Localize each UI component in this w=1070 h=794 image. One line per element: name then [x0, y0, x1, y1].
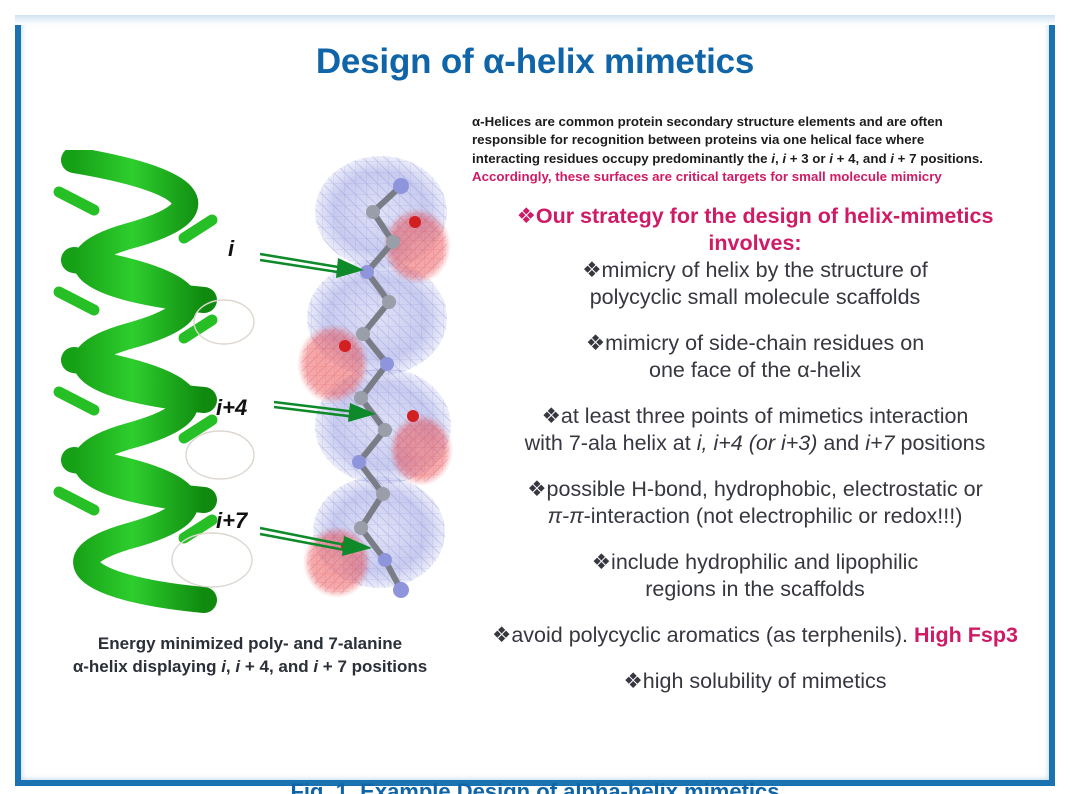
bullet-3-italic-1: i, i+4 (or i+3) [697, 431, 818, 455]
bullet-3-line-1: ❖at least three points of mimetics inter… [455, 403, 1055, 430]
bullet-glyph-icon: ❖ [517, 204, 536, 229]
bullet-glyph-icon: ❖ [582, 258, 601, 283]
bullet-glyph-icon: ❖ [592, 550, 611, 575]
electrostatic-surface-image [289, 150, 479, 630]
intro-line-1: α-Helices are common protein secondary s… [472, 113, 1012, 131]
bullet-lead-line-1: ❖Our strategy for the design of helix-mi… [455, 203, 1055, 230]
intro-line-3-e: + 7 positions. [894, 151, 983, 166]
bullet-5-line-2: regions in the scaffolds [455, 576, 1055, 603]
helix-figure [34, 150, 479, 630]
bullet-1-text-1: mimicry of helix by the structure of [602, 258, 928, 282]
arrow-to-position-i7 [258, 522, 376, 556]
bullet-2-line-2: one face of the α-helix [455, 357, 1055, 384]
bullet-3-mid: and [817, 431, 865, 455]
bullet-3-text-1: at least three points of mimetics intera… [561, 404, 969, 428]
bullet-3-pre: with 7-ala helix at [525, 431, 697, 455]
figure-caption-line-2: α-helix displaying i, i + 4, and i + 7 p… [20, 655, 480, 678]
bullet-lead-line-2: involves: [455, 230, 1055, 257]
intro-line-4-accent: Accordingly, these surfaces are critical… [472, 168, 1012, 186]
bullet-glyph-icon: ❖ [542, 404, 561, 429]
intro-line-3: interacting residues occupy predominantl… [472, 150, 1012, 168]
bullet-7-text: high solubility of mimetics [643, 669, 887, 693]
bullet-4-rest: -interaction (not electrophilic or redox… [584, 504, 963, 528]
label-position-i4: i+4 [216, 395, 247, 421]
bullet-7: ❖high solubility of mimetics [455, 668, 1055, 695]
intro-line-2: responsible for recognition between prot… [472, 131, 1012, 149]
bullet-lead-text-1: Our strategy for the design of helix-mim… [536, 204, 994, 228]
bullet-6-highlight: High Fsp3 [914, 623, 1018, 647]
bullet-glyph-icon: ❖ [586, 331, 605, 356]
intro-line-3-c: + 3 or [786, 151, 829, 166]
caption-b: , [226, 657, 235, 676]
alpha-helix-ribbon-image [34, 150, 284, 630]
spacer [455, 311, 1055, 330]
bullet-6-text: avoid polycyclic aromatics (as terphenil… [511, 623, 914, 647]
arrow-to-position-i4 [272, 396, 380, 426]
spacer [455, 530, 1055, 549]
caption-c: + 4, and [240, 657, 313, 676]
bullet-6: ❖avoid polycyclic aromatics (as terpheni… [455, 622, 1055, 649]
bullet-3-post: positions [895, 431, 986, 455]
intro-line-3-d: + 4, and [833, 151, 890, 166]
bullet-1-line-2: polycyclic small molecule scaffolds [455, 284, 1055, 311]
bullet-2-text-1: mimicry of side-chain residues on [605, 331, 924, 355]
bullet-1-line-1: ❖mimicry of helix by the structure of [455, 257, 1055, 284]
intro-paragraph: α-Helices are common protein secondary s… [472, 113, 1012, 186]
slide: Design of α-helix mimetics α-Helices are… [0, 0, 1070, 794]
spacer [455, 649, 1055, 668]
spacer [455, 384, 1055, 403]
spacer [455, 603, 1055, 622]
bullet-4-italic: π-π [548, 504, 584, 528]
bullet-glyph-icon: ❖ [623, 669, 642, 694]
strategy-bullet-list: ❖Our strategy for the design of helix-mi… [455, 203, 1055, 695]
bullet-glyph-icon: ❖ [492, 623, 511, 648]
bullet-glyph-icon: ❖ [527, 477, 546, 502]
page-title: Design of α-helix mimetics [0, 42, 1070, 82]
bullet-4-line-1: ❖possible H-bond, hydrophobic, electrost… [455, 476, 1055, 503]
bullet-3-line-2: with 7-ala helix at i, i+4 (or i+3) and … [455, 430, 1055, 457]
label-position-i7: i+7 [216, 508, 247, 534]
intro-line-3-a: interacting residues occupy predominantl… [472, 151, 771, 166]
bullet-5-text-1: include hydrophilic and lipophilic [611, 550, 918, 574]
caption-a: α-helix displaying [73, 657, 221, 676]
bullet-2-line-1: ❖mimicry of side-chain residues on [455, 330, 1055, 357]
bullet-3-italic-2: i+7 [865, 431, 894, 455]
figure-caption-line-1: Energy minimized poly- and 7-alanine [20, 632, 480, 655]
caption-d: + 7 positions [318, 657, 427, 676]
spacer [455, 457, 1055, 476]
figure-caption: Energy minimized poly- and 7-alanine α-h… [20, 632, 480, 678]
bullet-5-line-1: ❖include hydrophilic and lipophilic [455, 549, 1055, 576]
bullet-4-text-1: possible H-bond, hydrophobic, electrosta… [547, 477, 983, 501]
label-position-i: i [228, 236, 234, 262]
arrow-to-position-i [258, 248, 368, 280]
figure-footer-caption: Fig. 1. Example Design of alpha-helix mi… [0, 779, 1070, 794]
bullet-4-line-2: π-π-interaction (not electrophilic or re… [455, 503, 1055, 530]
